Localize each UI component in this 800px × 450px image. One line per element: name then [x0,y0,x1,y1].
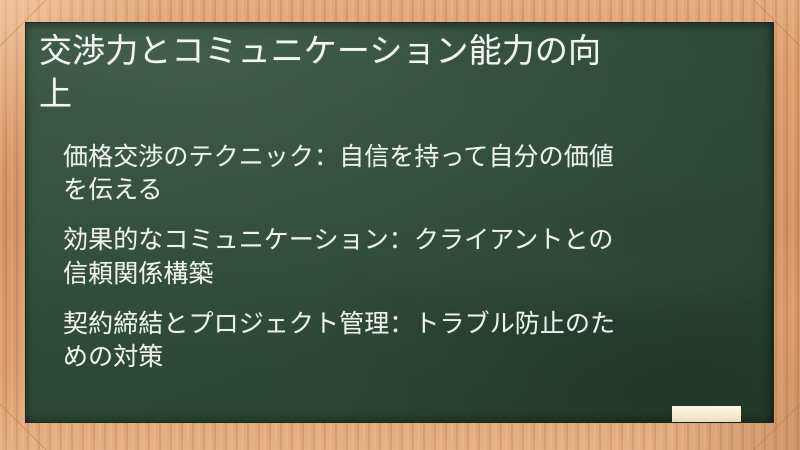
bullet-item-3: 契約締結とプロジェクト管理：トラブル防止のた めの対策 [63,307,754,374]
chalkboard-surface: 交渉力とコミュニケーション能力の向 上 価格交渉のテクニック：自信を持って自分の… [25,22,774,423]
slide-title: 交渉力とコミュニケーション能力の向 上 [31,30,754,116]
chalk-stick-icon [672,406,741,422]
bullet-item-2: 効果的なコミュニケーション：クライアントとの 信頼関係構築 [63,223,754,290]
slide-content: 交渉力とコミュニケーション能力の向 上 価格交渉のテクニック：自信を持って自分の… [25,22,774,423]
chalkboard-slide: 交渉力とコミュニケーション能力の向 上 価格交渉のテクニック：自信を持って自分の… [0,0,800,450]
bullet-list: 価格交渉のテクニック：自信を持って自分の価値 を伝える 効果的なコミュニケーショ… [31,140,754,374]
bullet-item-1: 価格交渉のテクニック：自信を持って自分の価値 を伝える [63,140,754,207]
